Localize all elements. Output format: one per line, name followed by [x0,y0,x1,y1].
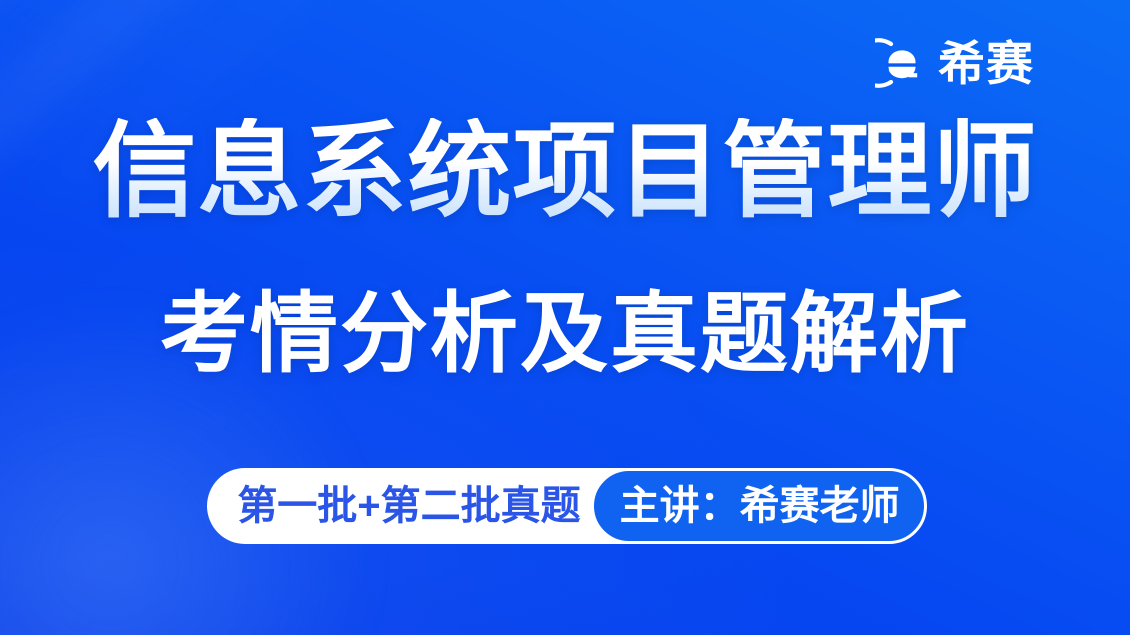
light-streak [0,0,232,105]
xisai-circle-e-logo-icon [875,36,929,90]
hero-title-secondary: 考情分析及真题解析 [0,288,1130,380]
hero-title-primary: 信息系统项目管理师 [0,118,1130,227]
bottom-badge-row: 第一批+第二批真题 主讲：希赛老师 [0,468,1130,544]
exam-scope-label: 第一批+第二批真题 [237,486,588,526]
light-streak [0,0,193,89]
brand-logo-text: 希赛 [938,40,1034,87]
speaker-badge: 主讲：希赛老师 [591,468,927,544]
brand-logo: 希赛 [875,36,1034,90]
speaker-label: 主讲：希赛老师 [620,486,900,526]
course-cover-poster: 希赛 信息系统项目管理师 考情分析及真题解析 第一批+第二批真题 主讲：希赛老师 [0,0,1130,635]
exam-scope-badge: 第一批+第二批真题 主讲：希赛老师 [207,468,922,544]
